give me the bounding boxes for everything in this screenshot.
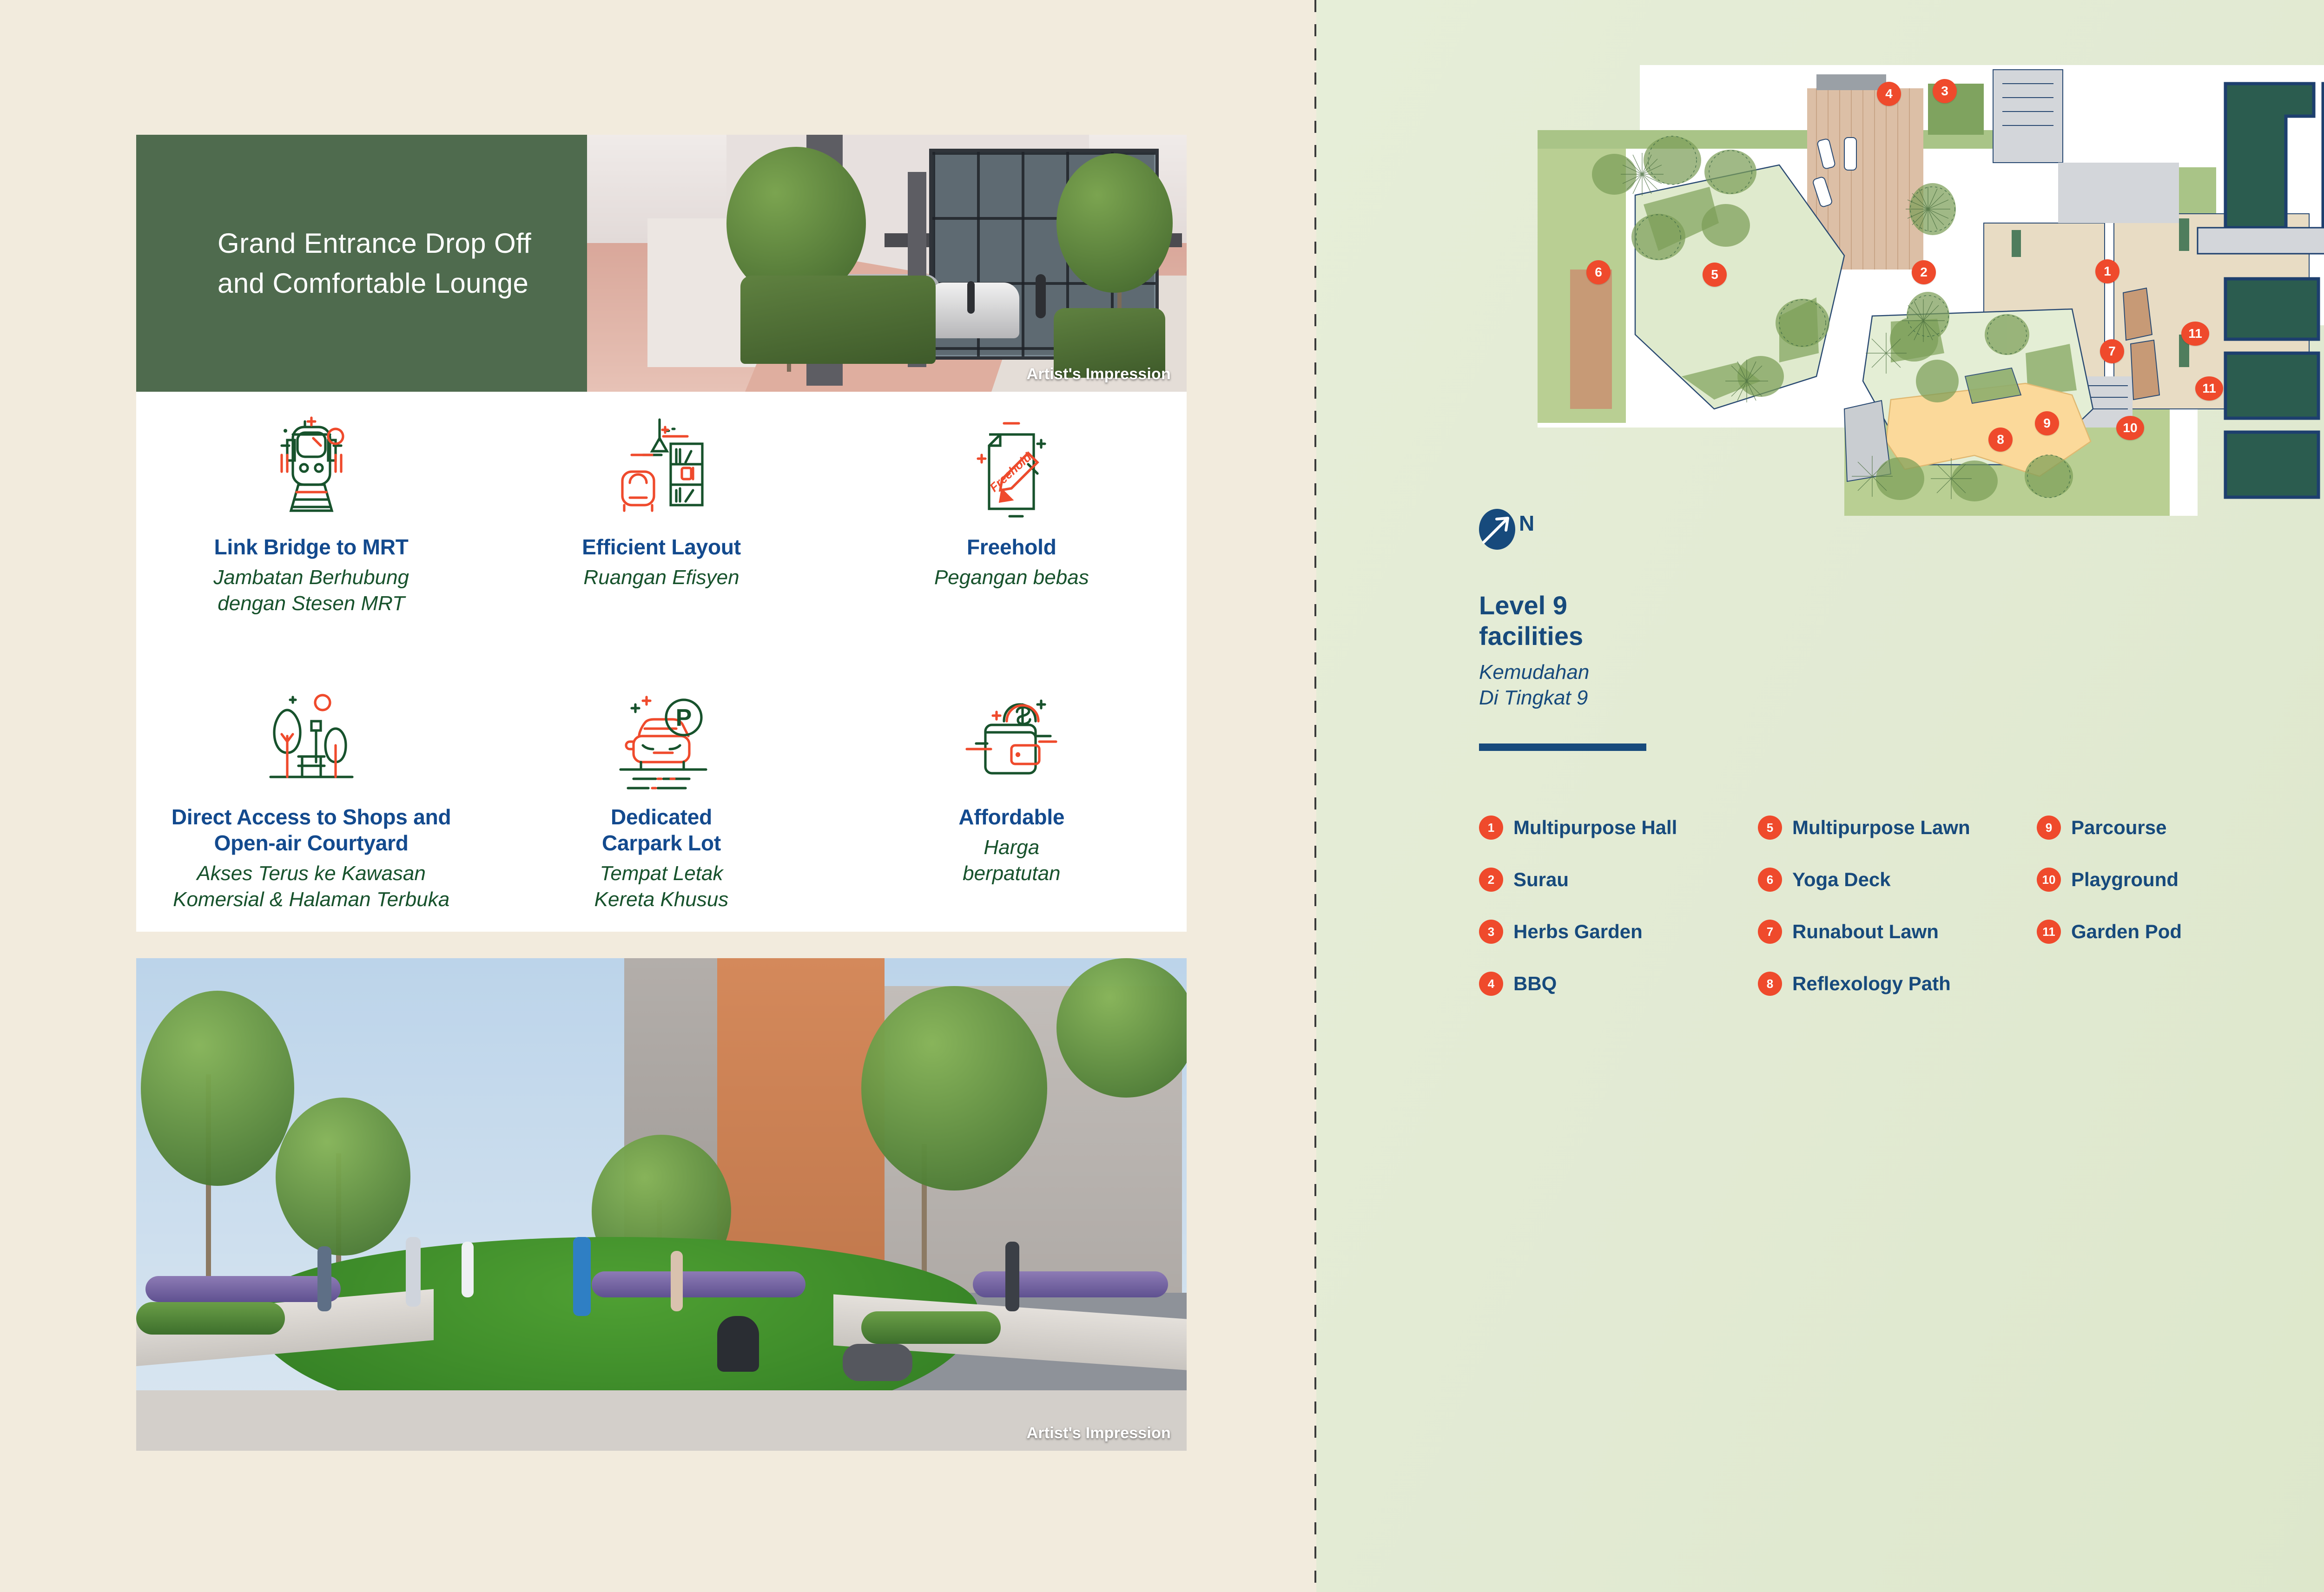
legend-label: Parcourse [2071,816,2166,839]
legend-number-badge: 10 [2037,868,2061,892]
legend-number-badge: 1 [1479,816,1503,840]
photo-tower-orange [717,958,885,1279]
level-title-line2: facilities [1479,621,1583,651]
site-plan-marker-7: 7 [2100,339,2124,363]
legend-item: 6Yoga Deck [1758,868,2037,892]
level-subtitle-line2: Di Tingkat 9 [1479,685,1589,711]
legend-number-badge: 6 [1758,868,1782,892]
photo-tree [861,986,1047,1191]
artist-impression-tag: Artist's Impression [1027,365,1171,383]
hero-row: Grand Entrance Drop Off and Comfortable … [136,135,1187,392]
entrance-dropoff-photo: Artist's Impression [587,135,1187,392]
legend-label: Herbs Garden [1513,921,1643,943]
courtyard-photo: Artist's Impression [136,958,1187,1451]
parking-letter: P [676,704,692,731]
photo-person [317,1246,331,1311]
legend-label: Reflexology Path [1792,973,1951,995]
feature-subtitle: Tempat LetakKereta Khusus [594,861,729,912]
legend-label: Surau [1513,868,1569,891]
feature-subtitle: Hargaberpatutan [963,835,1060,886]
legend-number-badge: 5 [1758,816,1782,840]
legend-item: 8Reflexology Path [1758,972,2037,996]
photo-lavender [592,1271,805,1297]
photo-shrub [861,1311,1001,1344]
photo-shrub [136,1302,285,1335]
legend-item: 5Multipurpose Lawn [1758,816,2037,840]
legend-label: BBQ [1513,973,1557,995]
legend-number-badge: 3 [1479,920,1503,944]
site-plan-marker-11: 11 [2195,376,2223,401]
feature-subtitle: Jambatan Berhubungdengan Stesen MRT [213,565,409,616]
legend-item: 7Runabout Lawn [1758,920,2037,944]
site-plan-marker-3: 3 [1933,79,1957,103]
feature-title: DedicatedCarpark Lot [602,804,721,856]
feature-icon-grid: Link Bridge to MRT Jambatan Berhubungden… [136,392,1187,932]
armchair-shelf-icon [606,414,717,526]
legend-item: 1Multipurpose Hall [1479,816,1758,840]
photo-person [406,1237,421,1307]
photo-tree [276,1098,410,1256]
legend-number-badge: 11 [2037,920,2061,944]
photo-lavender [145,1276,341,1302]
legend-label: Garden Pod [2071,921,2182,943]
feature-subtitle: Pegangan bebas [934,565,1089,590]
car-parking-icon: P [606,684,717,796]
legend-number-badge: 8 [1758,972,1782,996]
legend-item: 3Herbs Garden [1479,920,1758,944]
legend-number-badge: 2 [1479,868,1503,892]
hero-headline-line1: Grand Entrance Drop Off [218,224,531,263]
site-plan-marker-5: 5 [1703,263,1727,287]
photo-hedge-left [740,276,936,364]
feature-title: Freehold [967,534,1056,560]
compass-arrow [1479,509,1515,550]
legend-label: Runabout Lawn [1792,921,1939,943]
feature-title: Efficient Layout [582,534,741,560]
facilities-legend: 1Multipurpose Hall5Multipurpose Lawn9Par… [1479,816,2324,996]
photo-car-white [931,283,1019,338]
feature-item-affordable: Affordable Hargaberpatutan [837,662,1187,932]
legend-item: 11Garden Pod [2037,920,2316,944]
photo-person-playing [573,1237,591,1316]
feature-title: Affordable [958,804,1064,830]
feature-title: Direct Access to Shops andOpen-air Court… [172,804,451,856]
legend-label: Multipurpose Hall [1513,816,1677,839]
document-pen-icon: Freehold [956,414,1067,526]
legend-item: 4BBQ [1479,972,1758,996]
photo-person-kneeling [717,1316,759,1372]
feature-item-direct-access: Direct Access to Shops andOpen-air Court… [136,662,486,932]
legend-number-badge: 9 [2037,816,2061,840]
photo-person [967,281,975,314]
site-plan-drawing [1519,56,2324,520]
photo-tree [141,991,294,1186]
legend-label: Multipurpose Lawn [1792,816,1970,839]
train-mrt-icon [256,414,367,526]
site-plan-marker-1: 1 [2095,259,2119,283]
feature-card: Grand Entrance Drop Off and Comfortable … [136,135,1187,932]
legend-item: 10Playground [2037,868,2316,892]
level-9-subtitle: Kemudahan Di Tingkat 9 [1479,660,1589,710]
site-plan-marker-10: 10 [2116,416,2144,440]
compass-label-n: N [1519,511,1534,536]
level-subtitle-line1: Kemudahan [1479,660,1589,685]
site-plan-marker-11: 11 [2181,322,2209,346]
hero-headline: Grand Entrance Drop Off and Comfortable … [136,224,531,303]
feature-item-efficient-layout: Efficient Layout Ruangan Efisyen [486,392,836,662]
park-bench-tree-icon [256,684,367,796]
wallet-dollar-icon [956,684,1067,796]
level-9-site-plan: 436521711119108 [1519,56,2324,520]
level-title-line1: Level 9 [1479,590,1583,621]
brochure-page: Grand Entrance Drop Off and Comfortable … [0,0,2324,1592]
feature-subtitle: Ruangan Efisyen [583,565,739,590]
photo-person [462,1242,474,1297]
photo-person [671,1251,683,1311]
legend-item: 9Parcourse [2037,816,2316,840]
legend-number-badge: 7 [1758,920,1782,944]
legend-item: 2Surau [1479,868,1758,892]
legend-number-badge: 4 [1479,972,1503,996]
photo-lavender [973,1271,1168,1297]
photo-person [1005,1242,1019,1311]
site-plan-marker-2: 2 [1912,260,1936,284]
right-panel: 436521711119108 N Level 9 facilities Kem… [1316,0,2324,1592]
feature-title: Link Bridge to MRT [214,534,409,560]
site-plan-marker-8: 8 [1988,428,2013,452]
feature-item-dedicated-carpark: P DedicatedCarpark Lot Tempat LetakKeret… [486,662,836,932]
hero-caption-block: Grand Entrance Drop Off and Comfortable … [136,135,587,392]
photo-person-sitting [843,1344,912,1381]
hero-headline-line2: and Comfortable Lounge [218,263,531,303]
compass-north-icon: N [1479,509,1553,550]
feature-item-link-bridge-mrt: Link Bridge to MRT Jambatan Berhubungden… [136,392,486,662]
legend-label: Yoga Deck [1792,868,1891,891]
legend-label: Playground [2071,868,2179,891]
photo-tree [1056,958,1187,1098]
level-title-rule [1479,743,1646,751]
photo-person [1036,274,1046,318]
site-plan-marker-4: 4 [1877,82,1901,106]
feature-item-freehold: Freehold Freehold Pegangan bebas [837,392,1187,662]
site-plan-marker-9: 9 [2035,411,2059,435]
feature-subtitle: Akses Terus ke KawasanKomersial & Halama… [173,861,449,912]
artist-impression-tag: Artist's Impression [1027,1424,1171,1442]
site-plan-marker-6: 6 [1586,260,1611,284]
photo-tree-right [1056,153,1173,293]
level-9-title: Level 9 facilities [1479,590,1583,651]
left-panel: Grand Entrance Drop Off and Comfortable … [0,0,1315,1592]
